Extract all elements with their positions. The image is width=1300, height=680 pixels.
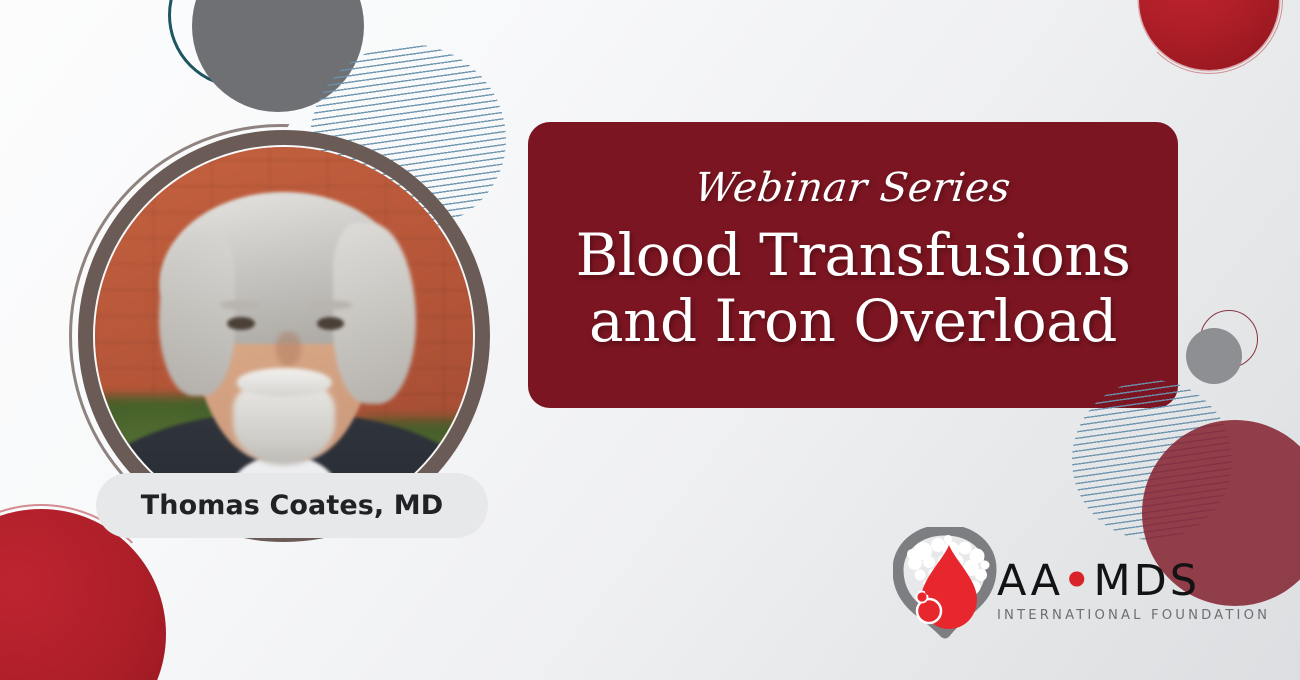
webinar-title-card: Webinar Series Blood Transfusions and Ir… (0, 0, 1300, 680)
blood-drop-logo-icon (893, 527, 1001, 639)
eyebrow-right (310, 300, 352, 310)
webinar-series-eyebrow: Webinar Series (693, 168, 1013, 208)
gray-circle-decoration-right (1186, 328, 1242, 384)
mustache (237, 368, 332, 396)
logo-separator-dot: • (1063, 556, 1093, 606)
red-brush-circle-decoration-top-right (1139, 0, 1279, 70)
speaker-name: Thomas Coates, MD (141, 490, 444, 521)
logo-wordmark-mds: MDS (1094, 556, 1201, 606)
aamds-logo: AA•MDS INTERNATIONAL FOUNDATION (893, 527, 1270, 639)
eye-left (227, 317, 254, 330)
logo-wordmark: AA•MDS (997, 560, 1270, 603)
eyebrow-left (220, 300, 262, 310)
logo-text-block: AA•MDS INTERNATIONAL FOUNDATION (997, 527, 1270, 623)
title-line-1: Blood Transfusions (576, 222, 1131, 288)
page-title: Blood Transfusions and Iron Overload (576, 222, 1131, 354)
logo-wordmark-aa: AA (997, 556, 1063, 606)
speaker-name-pill: Thomas Coates, MD (96, 473, 488, 538)
nose (276, 332, 301, 366)
logo-tagline: INTERNATIONAL FOUNDATION (997, 608, 1270, 623)
title-card: Webinar Series Blood Transfusions and Ir… (528, 122, 1178, 408)
title-line-2: and Iron Overload (576, 288, 1131, 354)
